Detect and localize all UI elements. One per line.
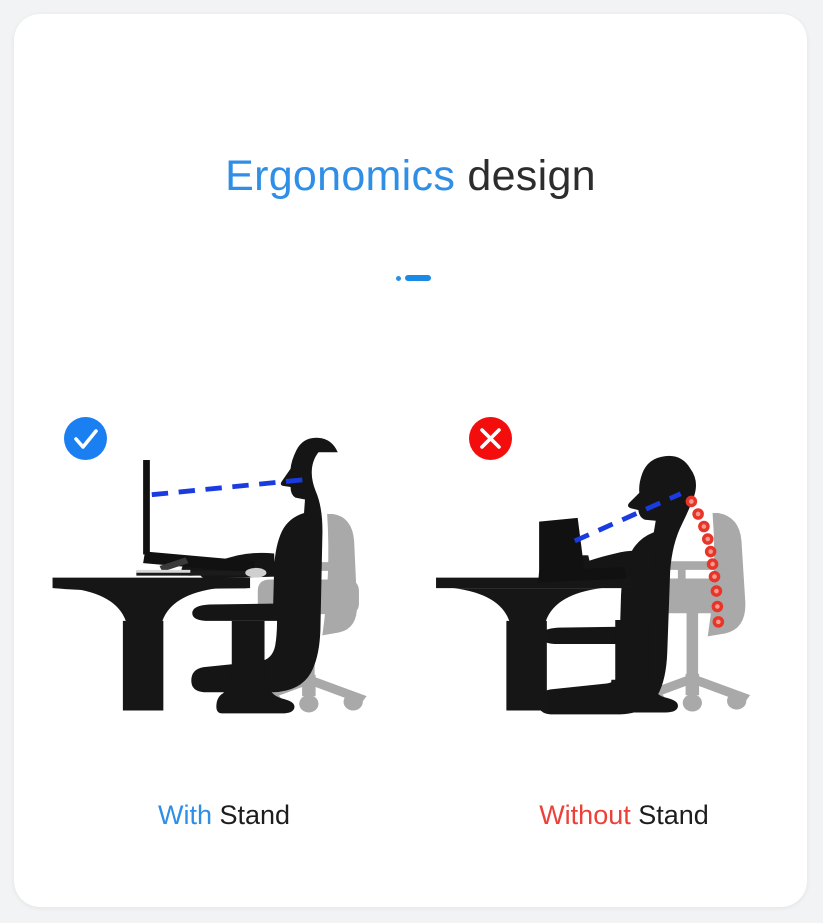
ergonomics-card: Ergonomics design xyxy=(14,14,807,907)
illustrations-svg xyxy=(14,14,807,907)
laptop-screen-right xyxy=(539,518,585,582)
spine-pain-indicator xyxy=(686,496,725,628)
cross-icon xyxy=(469,417,512,460)
sightline-left xyxy=(152,479,308,494)
laptop-on-stand-left xyxy=(136,460,255,576)
mouse-left xyxy=(245,568,266,578)
divider-dash-icon xyxy=(405,275,431,281)
caption-with-stand-rest: Stand xyxy=(212,800,290,830)
divider-mark xyxy=(17,272,807,284)
laptop-flat-right xyxy=(538,518,627,583)
office-chair-left xyxy=(246,514,366,712)
check-icon xyxy=(64,417,107,460)
caption-with-stand: With Stand xyxy=(14,800,434,831)
page-title: Ergonomics design xyxy=(14,152,807,201)
laptop-base-left xyxy=(143,552,255,573)
page-title-highlight: Ergonomics xyxy=(225,152,455,200)
laptop-screen-left xyxy=(143,460,150,554)
desk-left xyxy=(53,578,251,711)
scene-without-stand xyxy=(436,456,750,714)
caption-without-stand-highlight: Without xyxy=(539,800,631,830)
laptop-base-right xyxy=(538,567,627,582)
scene-with-stand xyxy=(53,438,367,714)
laptop-stand-leg xyxy=(159,557,188,571)
status-badge-check xyxy=(64,417,107,460)
page-root: Ergonomics design xyxy=(0,0,823,923)
office-chair-right xyxy=(630,513,750,711)
divider-dot-icon xyxy=(396,276,401,281)
illustration-stage xyxy=(14,14,807,907)
caption-without-stand: Without Stand xyxy=(414,800,807,831)
person-upright-silhouette xyxy=(182,438,338,714)
desk-right xyxy=(436,578,634,711)
caption-without-stand-rest: Stand xyxy=(631,800,709,830)
page-title-rest: design xyxy=(455,152,596,200)
person-hunched-silhouette xyxy=(538,456,696,714)
sightline-right xyxy=(575,494,681,541)
status-badge-cross xyxy=(469,417,512,460)
laptop-stand-highlight xyxy=(136,570,190,573)
caption-with-stand-highlight: With xyxy=(158,800,212,830)
laptop-stand-base xyxy=(136,571,246,576)
